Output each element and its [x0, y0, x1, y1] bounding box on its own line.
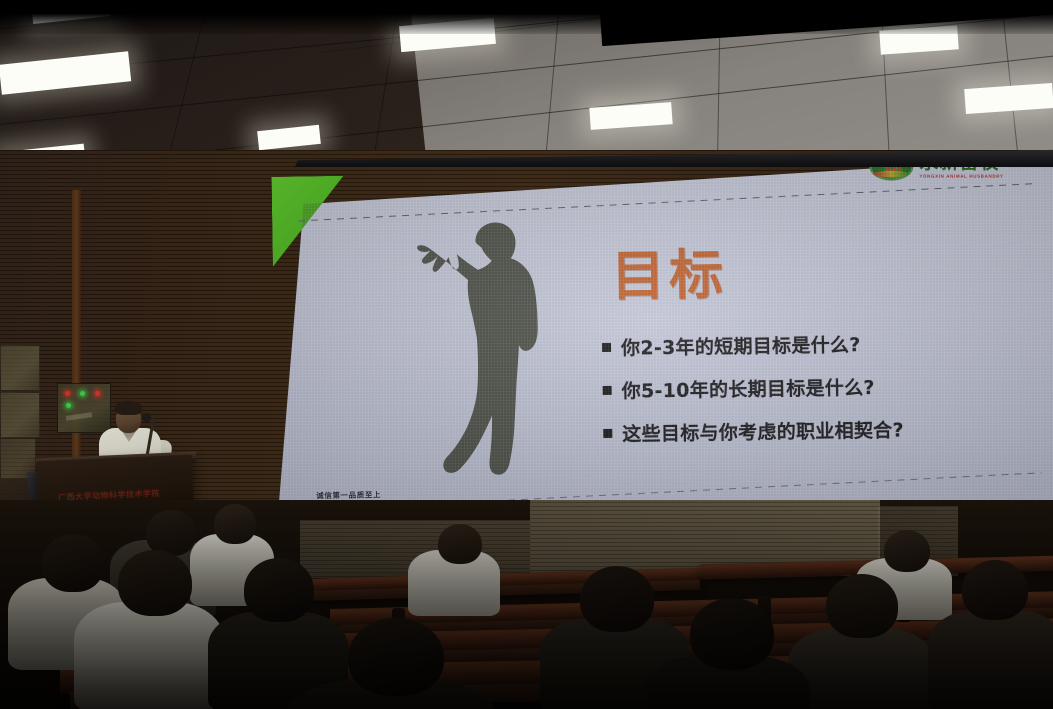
indicator-led-green [66, 403, 71, 408]
presentation-slide: YX 永新畜牧 YONGXIN ANIMAL HUSBANDRY 目标 你2-3… [269, 149, 1053, 539]
slide-divider-top [298, 183, 1037, 221]
lecture-hall-photo: YX 永新畜牧 YONGXIN ANIMAL HUSBANDRY 目标 你2-3… [0, 0, 1053, 709]
bullet-square-icon [602, 343, 611, 352]
slide-corner-accent [271, 176, 344, 267]
bullet-text: 你2-3年的短期目标是什么? [621, 330, 861, 361]
speaker-hair [115, 401, 142, 415]
audience-area [0, 500, 1053, 709]
slide-title: 目标 [610, 230, 727, 311]
bullet-text: 这些目标与你考虑的职业相契合? [622, 415, 904, 446]
presenter-silhouette-icon [415, 219, 559, 481]
list-item: 这些目标与你考虑的职业相契合? [603, 414, 1033, 447]
indicator-led-red [65, 391, 70, 396]
projection-screen: YX 永新畜牧 YONGXIN ANIMAL HUSBANDRY 目标 你2-3… [272, 155, 1053, 540]
equipment-control-panel[interactable] [57, 383, 111, 433]
list-item: 你2-3年的短期目标是什么? [602, 328, 1032, 361]
wall-cabinet [0, 345, 40, 391]
bullet-square-icon [603, 429, 612, 438]
list-item: 你5-10年的长期目标是什么? [602, 371, 1032, 404]
slide-bullet-list: 你2-3年的短期目标是什么? 你5-10年的长期目标是什么? 这些目标与你考虑的… [602, 328, 1034, 447]
wall-pillar [72, 190, 81, 490]
indicator-led-red [95, 391, 100, 396]
microphone-icon [142, 413, 151, 422]
panel-switch[interactable] [66, 412, 92, 421]
indicator-led-green [80, 391, 85, 396]
wall-cabinet [0, 392, 40, 438]
bullet-square-icon [603, 386, 612, 395]
logo-name-en: YONGXIN ANIMAL HUSBANDRY [919, 175, 1003, 179]
bullet-text: 你5-10年的长期目标是什么? [621, 373, 874, 404]
